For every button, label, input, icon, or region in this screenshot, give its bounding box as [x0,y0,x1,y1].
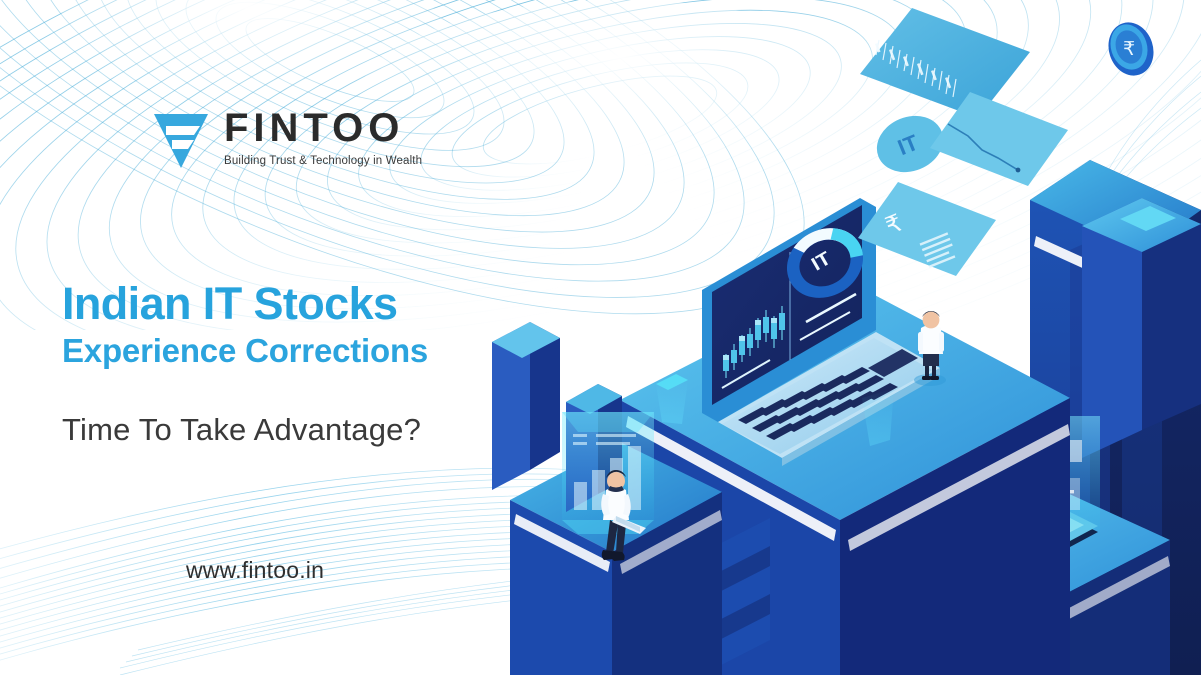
logo-tagline: Building Trust & Technology in Wealth [224,155,422,167]
floating-candlestick-card[interactable] [860,8,1030,118]
brand-logo[interactable]: FINTOO Building Trust & Technology in We… [150,108,422,172]
isometric-fintech-illustration: ₹ [470,0,1201,675]
rupee-report-card[interactable]: ₹ [858,182,996,276]
fintoo-triangle-f-logo-icon [150,110,212,172]
subheadline: Time To Take Advantage? [62,412,421,448]
rupee-coin: ₹ [1102,17,1161,82]
logo-wordmark: FINTOO [224,108,422,148]
headline-line-1: Indian IT Stocks [62,281,428,327]
rupee-symbol: ₹ [1123,38,1135,60]
website-url: www.fintoo.in [186,557,324,584]
headline-block: Indian IT Stocks Experience Corrections [62,281,428,370]
headline-line-2: Experience Corrections [62,331,428,371]
poster-canvas: FINTOO Building Trust & Technology in We… [0,0,1201,675]
